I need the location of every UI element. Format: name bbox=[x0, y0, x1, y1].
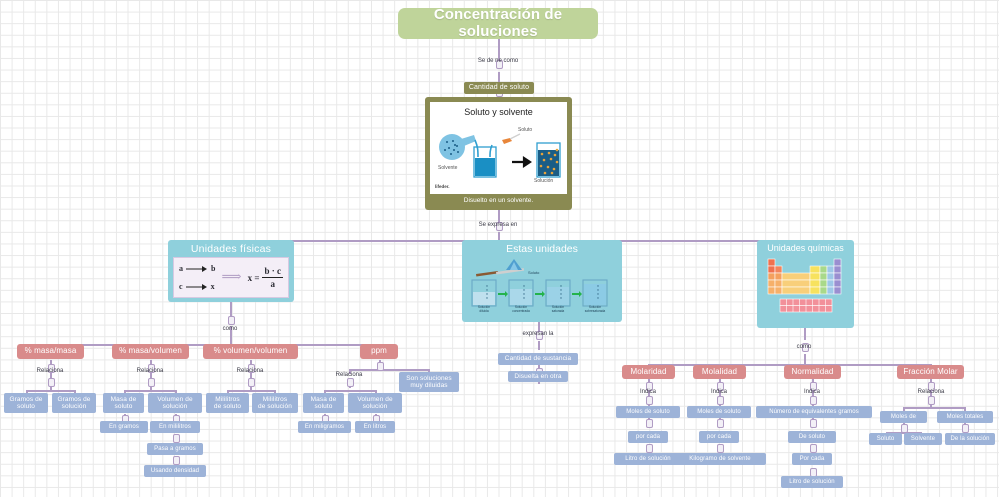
edge-knob bbox=[228, 316, 235, 325]
label-solucion: Solución bbox=[534, 178, 553, 184]
node-por-cada-molaridad[interactable]: por cada bbox=[628, 431, 668, 443]
formula-illustration: a b c x ⟹ x = b · c a bbox=[173, 257, 289, 298]
node-son-soluciones-muy-diluidas[interactable]: Son soluciones muy diluidas bbox=[399, 372, 459, 392]
edge-label-relaciona-2: Relaciona bbox=[125, 368, 175, 374]
node-usando-densidad[interactable]: Usando densidad bbox=[144, 465, 206, 477]
edge-estas-down2 bbox=[538, 341, 540, 350]
edge-quimicas-down bbox=[804, 328, 806, 340]
formula-a: a bbox=[179, 264, 183, 273]
edge-root-down bbox=[498, 38, 500, 60]
edge-knob bbox=[646, 444, 653, 453]
edge-quimicas-down2 bbox=[804, 354, 806, 364]
node-por-cada-molalidad[interactable]: por cada bbox=[699, 431, 739, 443]
node-gramos-de-soluto[interactable]: Gramos de soluto bbox=[4, 393, 48, 413]
panel-unidades-fisicas[interactable]: Unidades físicas a b c x ⟹ x = b · c bbox=[168, 240, 294, 302]
soluto-card-caption: Disuelto en un solvente. bbox=[430, 194, 567, 204]
beaker-label-diluida: Solución diluida bbox=[467, 306, 501, 313]
node-litro-de-solucion-normalidad[interactable]: Litro de solución bbox=[781, 476, 843, 488]
image-card-soluto-solvente[interactable]: Soluto y solvente bbox=[425, 97, 572, 210]
node-pct-masa-masa[interactable]: % masa/masa bbox=[17, 344, 84, 359]
node-moles-totales[interactable]: Moles totales bbox=[937, 411, 993, 423]
edge-label-relaciona-5: Relaciona bbox=[906, 389, 956, 395]
node-en-litros[interactable]: En litros bbox=[355, 421, 395, 433]
edge-knob bbox=[810, 444, 817, 453]
panel-unidades-quimicas[interactable]: Unidades químicas bbox=[757, 240, 854, 328]
edge-fm-split bbox=[903, 407, 965, 409]
arrow-right-icon bbox=[186, 266, 208, 272]
node-normalidad[interactable]: Normalidad bbox=[784, 365, 841, 379]
node-en-gramos[interactable]: En gramos bbox=[100, 421, 148, 433]
beaker-0-line2: diluida bbox=[479, 309, 488, 313]
edge-knob bbox=[717, 444, 724, 453]
concept-map-canvas: Concentración de soluciones Se de ne com… bbox=[0, 0, 999, 497]
periodic-table-illustration bbox=[766, 257, 846, 319]
edge-root-down-2 bbox=[498, 72, 500, 82]
edge-label-se-expresa-en: Se expresa en bbox=[468, 222, 528, 228]
node-moles-de-soluto-molalidad[interactable]: Moles de soluto bbox=[687, 406, 751, 418]
edge-label-como-quimicas: como bbox=[784, 344, 824, 350]
beaker-label-sobresaturada: Solución sobresaturada bbox=[578, 306, 612, 313]
edge-label-relaciona-3: Relaciona bbox=[225, 368, 275, 374]
beaker-label-saturada: Solución saturada bbox=[541, 306, 575, 313]
edge-knob bbox=[148, 378, 155, 387]
node-ppm-volumen-de-solucion[interactable]: Volumen de solución bbox=[348, 393, 402, 413]
edge-fisicas-down bbox=[230, 302, 232, 316]
node-moles-de-soluto-molaridad[interactable]: Moles de soluto bbox=[616, 406, 680, 418]
edge-knob bbox=[173, 434, 180, 443]
formula-denominator: a bbox=[270, 278, 275, 289]
node-ppm-masa-de-soluto[interactable]: Masa de soluto bbox=[303, 393, 344, 413]
formula-b: b bbox=[211, 264, 215, 273]
beaker-1-line2: concentrada bbox=[512, 309, 530, 313]
node-pct-volumen-volumen[interactable]: % volumen/volumen bbox=[203, 344, 298, 359]
formula-numerator: b · c bbox=[262, 266, 283, 278]
watermark-lifeder: lifeder. bbox=[435, 184, 450, 189]
node-en-mililitros[interactable]: En mililitros bbox=[150, 421, 200, 433]
edge-knob bbox=[928, 396, 935, 405]
edge-card-down bbox=[498, 210, 500, 222]
node-de-la-solucion[interactable]: De la solución bbox=[945, 433, 995, 445]
beaker-2-line2: saturada bbox=[552, 309, 564, 313]
node-molaridad[interactable]: Molaridad bbox=[622, 365, 675, 379]
node-fraccion-molar[interactable]: Fracción Molar bbox=[897, 365, 964, 379]
edge-knob bbox=[646, 396, 653, 405]
edge-knob bbox=[810, 419, 817, 428]
node-gramos-de-solucion[interactable]: Gramos de solución bbox=[52, 393, 96, 413]
edge-label-se-define-como: Se de ne como bbox=[448, 58, 548, 64]
node-pasa-a-gramos[interactable]: Pasa a gramos bbox=[147, 443, 203, 455]
edge-mm-split bbox=[26, 390, 74, 392]
beaker-label-concentrada: Solución concentrada bbox=[504, 306, 538, 313]
edge-knob bbox=[810, 396, 817, 405]
edge-label-indica-3: Indica bbox=[792, 389, 832, 395]
edge-ppm-split bbox=[349, 369, 429, 371]
edge-knob bbox=[48, 378, 55, 387]
node-masa-de-soluto[interactable]: Masa de soluto bbox=[103, 393, 144, 413]
node-en-miligramos[interactable]: En miligramos bbox=[298, 421, 351, 433]
node-disuelta-en-otra[interactable]: Disuelta en otra bbox=[508, 371, 568, 382]
node-cantidad-de-soluto[interactable]: Cantidad de soluto bbox=[464, 82, 534, 94]
node-moles-de[interactable]: Moles de bbox=[880, 411, 927, 423]
node-ppm[interactable]: ppm bbox=[360, 344, 398, 359]
node-por-cada-normalidad[interactable]: Por cada bbox=[792, 453, 832, 465]
edge-label-relaciona-1: Relaciona bbox=[25, 368, 75, 374]
node-kilogramo-de-solvente[interactable]: Kilogramo de solvente bbox=[674, 453, 766, 465]
label-solvente: Solvente bbox=[438, 165, 457, 171]
node-cantidad-de-sustancia[interactable]: Cantidad de sustancia bbox=[498, 353, 578, 365]
edge-vv-split bbox=[227, 390, 275, 392]
edge-knob bbox=[962, 424, 969, 433]
soluto-card-heading: Soluto y solvente bbox=[430, 102, 567, 117]
edge-knob bbox=[347, 378, 354, 387]
node-pct-masa-volumen[interactable]: % masa/volumen bbox=[112, 344, 189, 359]
edge-knob bbox=[901, 424, 908, 433]
node-litro-de-solucion-molaridad[interactable]: Litro de solución bbox=[614, 453, 682, 465]
formula-eq-lhs: x = bbox=[248, 273, 260, 283]
node-mililitros-de-soluto[interactable]: Mililitros de soluto bbox=[206, 393, 249, 413]
edge-label-indica-2: Indica bbox=[699, 389, 739, 395]
panel-estas-unidades-title: Estas unidades bbox=[462, 240, 622, 255]
node-volumen-de-solucion[interactable]: Volumen de solución bbox=[148, 393, 202, 413]
edge-knob bbox=[717, 396, 724, 405]
edge-knob bbox=[646, 419, 653, 428]
edge-knob bbox=[248, 378, 255, 387]
node-molalidad[interactable]: Molalidad bbox=[693, 365, 746, 379]
soluto-card-illustration: Soluto y solvente bbox=[430, 102, 567, 194]
edge-knob bbox=[717, 419, 724, 428]
label-soluto-beakers: Soluto bbox=[528, 270, 539, 275]
node-soluto[interactable]: Soluto bbox=[869, 433, 902, 445]
edge-knob bbox=[173, 456, 180, 465]
formula-x: x bbox=[211, 282, 215, 291]
arrow-right-icon bbox=[186, 284, 208, 290]
node-solvente[interactable]: Solvente bbox=[904, 433, 942, 445]
root-node-concentracion[interactable]: Concentración de soluciones bbox=[398, 8, 598, 39]
panel-unidades-fisicas-title: Unidades físicas bbox=[168, 240, 294, 255]
panel-estas-unidades[interactable]: Estas unidades bbox=[462, 240, 622, 322]
edge-label-relaciona-4: Relaciona bbox=[324, 372, 374, 378]
edge-ppm-split2 bbox=[324, 390, 376, 392]
implies-arrow-icon: ⟹ bbox=[221, 269, 241, 286]
node-mililitros-de-solucion[interactable]: Mililitros de solución bbox=[252, 393, 298, 413]
edge-mv-split bbox=[124, 390, 176, 392]
edge-label-como-fisicas: como bbox=[210, 326, 250, 332]
label-soluto: Soluto bbox=[518, 127, 532, 133]
edge-label-expresan-la: expresan la bbox=[513, 331, 563, 337]
node-numero-de-equivalentes-gramos[interactable]: Número de equivalentes gramos bbox=[756, 406, 872, 418]
formula-c: c bbox=[179, 282, 183, 291]
edge-knob bbox=[377, 362, 384, 371]
beaker-3-line2: sobresaturada bbox=[585, 309, 605, 313]
node-de-soluto[interactable]: De soluto bbox=[788, 431, 836, 443]
edge-label-indica-1: Indica bbox=[628, 389, 668, 395]
edge-estas-down bbox=[538, 322, 540, 331]
panel-unidades-quimicas-title: Unidades químicas bbox=[757, 240, 854, 253]
soluto-solvente-diagram bbox=[430, 117, 567, 185]
